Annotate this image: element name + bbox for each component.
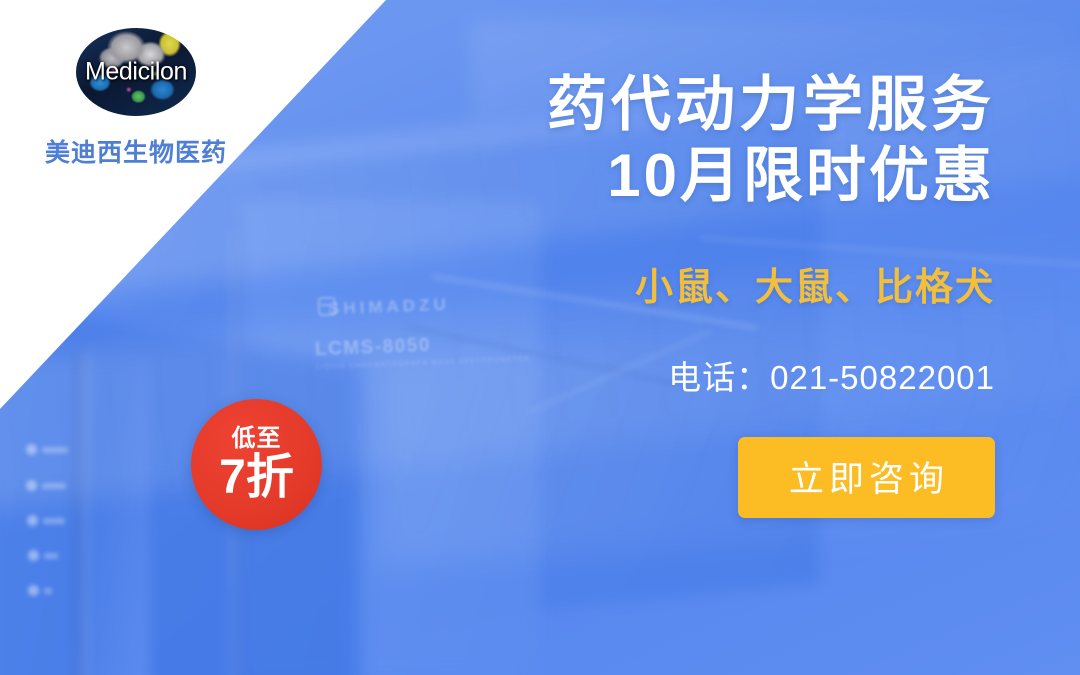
- indicator-lamp-icon: [28, 585, 39, 596]
- discount-badge-value: 7折: [219, 454, 294, 502]
- indicator-lamp-label: [42, 483, 66, 489]
- promo-copy: 药代动力学服务 10月限时优惠 小鼠、大鼠、比格犬 电话：021-5082200…: [355, 70, 995, 518]
- indicator-lamp-icon: [26, 444, 37, 455]
- promo-banner: SHIMADZU LCMS-8050 LIQUID CHROMATOGRAPH …: [0, 0, 1080, 675]
- indicator-lamp-label: [44, 588, 52, 594]
- logo-wordmark: Medicilon: [76, 58, 196, 87]
- discount-badge: 低至 7折: [191, 399, 322, 530]
- company-name-cn: 美迪西生物医药: [26, 133, 246, 169]
- headline-line-1: 药代动力学服务: [355, 70, 995, 141]
- indicator-lamp-label: [44, 553, 58, 559]
- discount-badge-prefix: 低至: [232, 427, 282, 451]
- indicator-lamp-label: [42, 447, 68, 453]
- medicilon-oval-icon: Medicilon: [76, 28, 196, 116]
- brand-logo[interactable]: Medicilon 美迪西生物医药: [26, 28, 246, 169]
- indicator-lamp-icon: [27, 515, 38, 526]
- cta-container: 立即咨询: [355, 437, 995, 518]
- headline-line-2: 10月限时优惠: [355, 141, 995, 212]
- consult-now-button[interactable]: 立即咨询: [738, 437, 995, 518]
- indicator-lamp-icon: [26, 480, 37, 491]
- species-subtitle: 小鼠、大鼠、比格犬: [355, 256, 995, 311]
- indicator-lamp-icon: [28, 550, 39, 561]
- indicator-lamp-label: [43, 518, 65, 524]
- contact-phone[interactable]: 电话：021-50822001: [355, 351, 995, 399]
